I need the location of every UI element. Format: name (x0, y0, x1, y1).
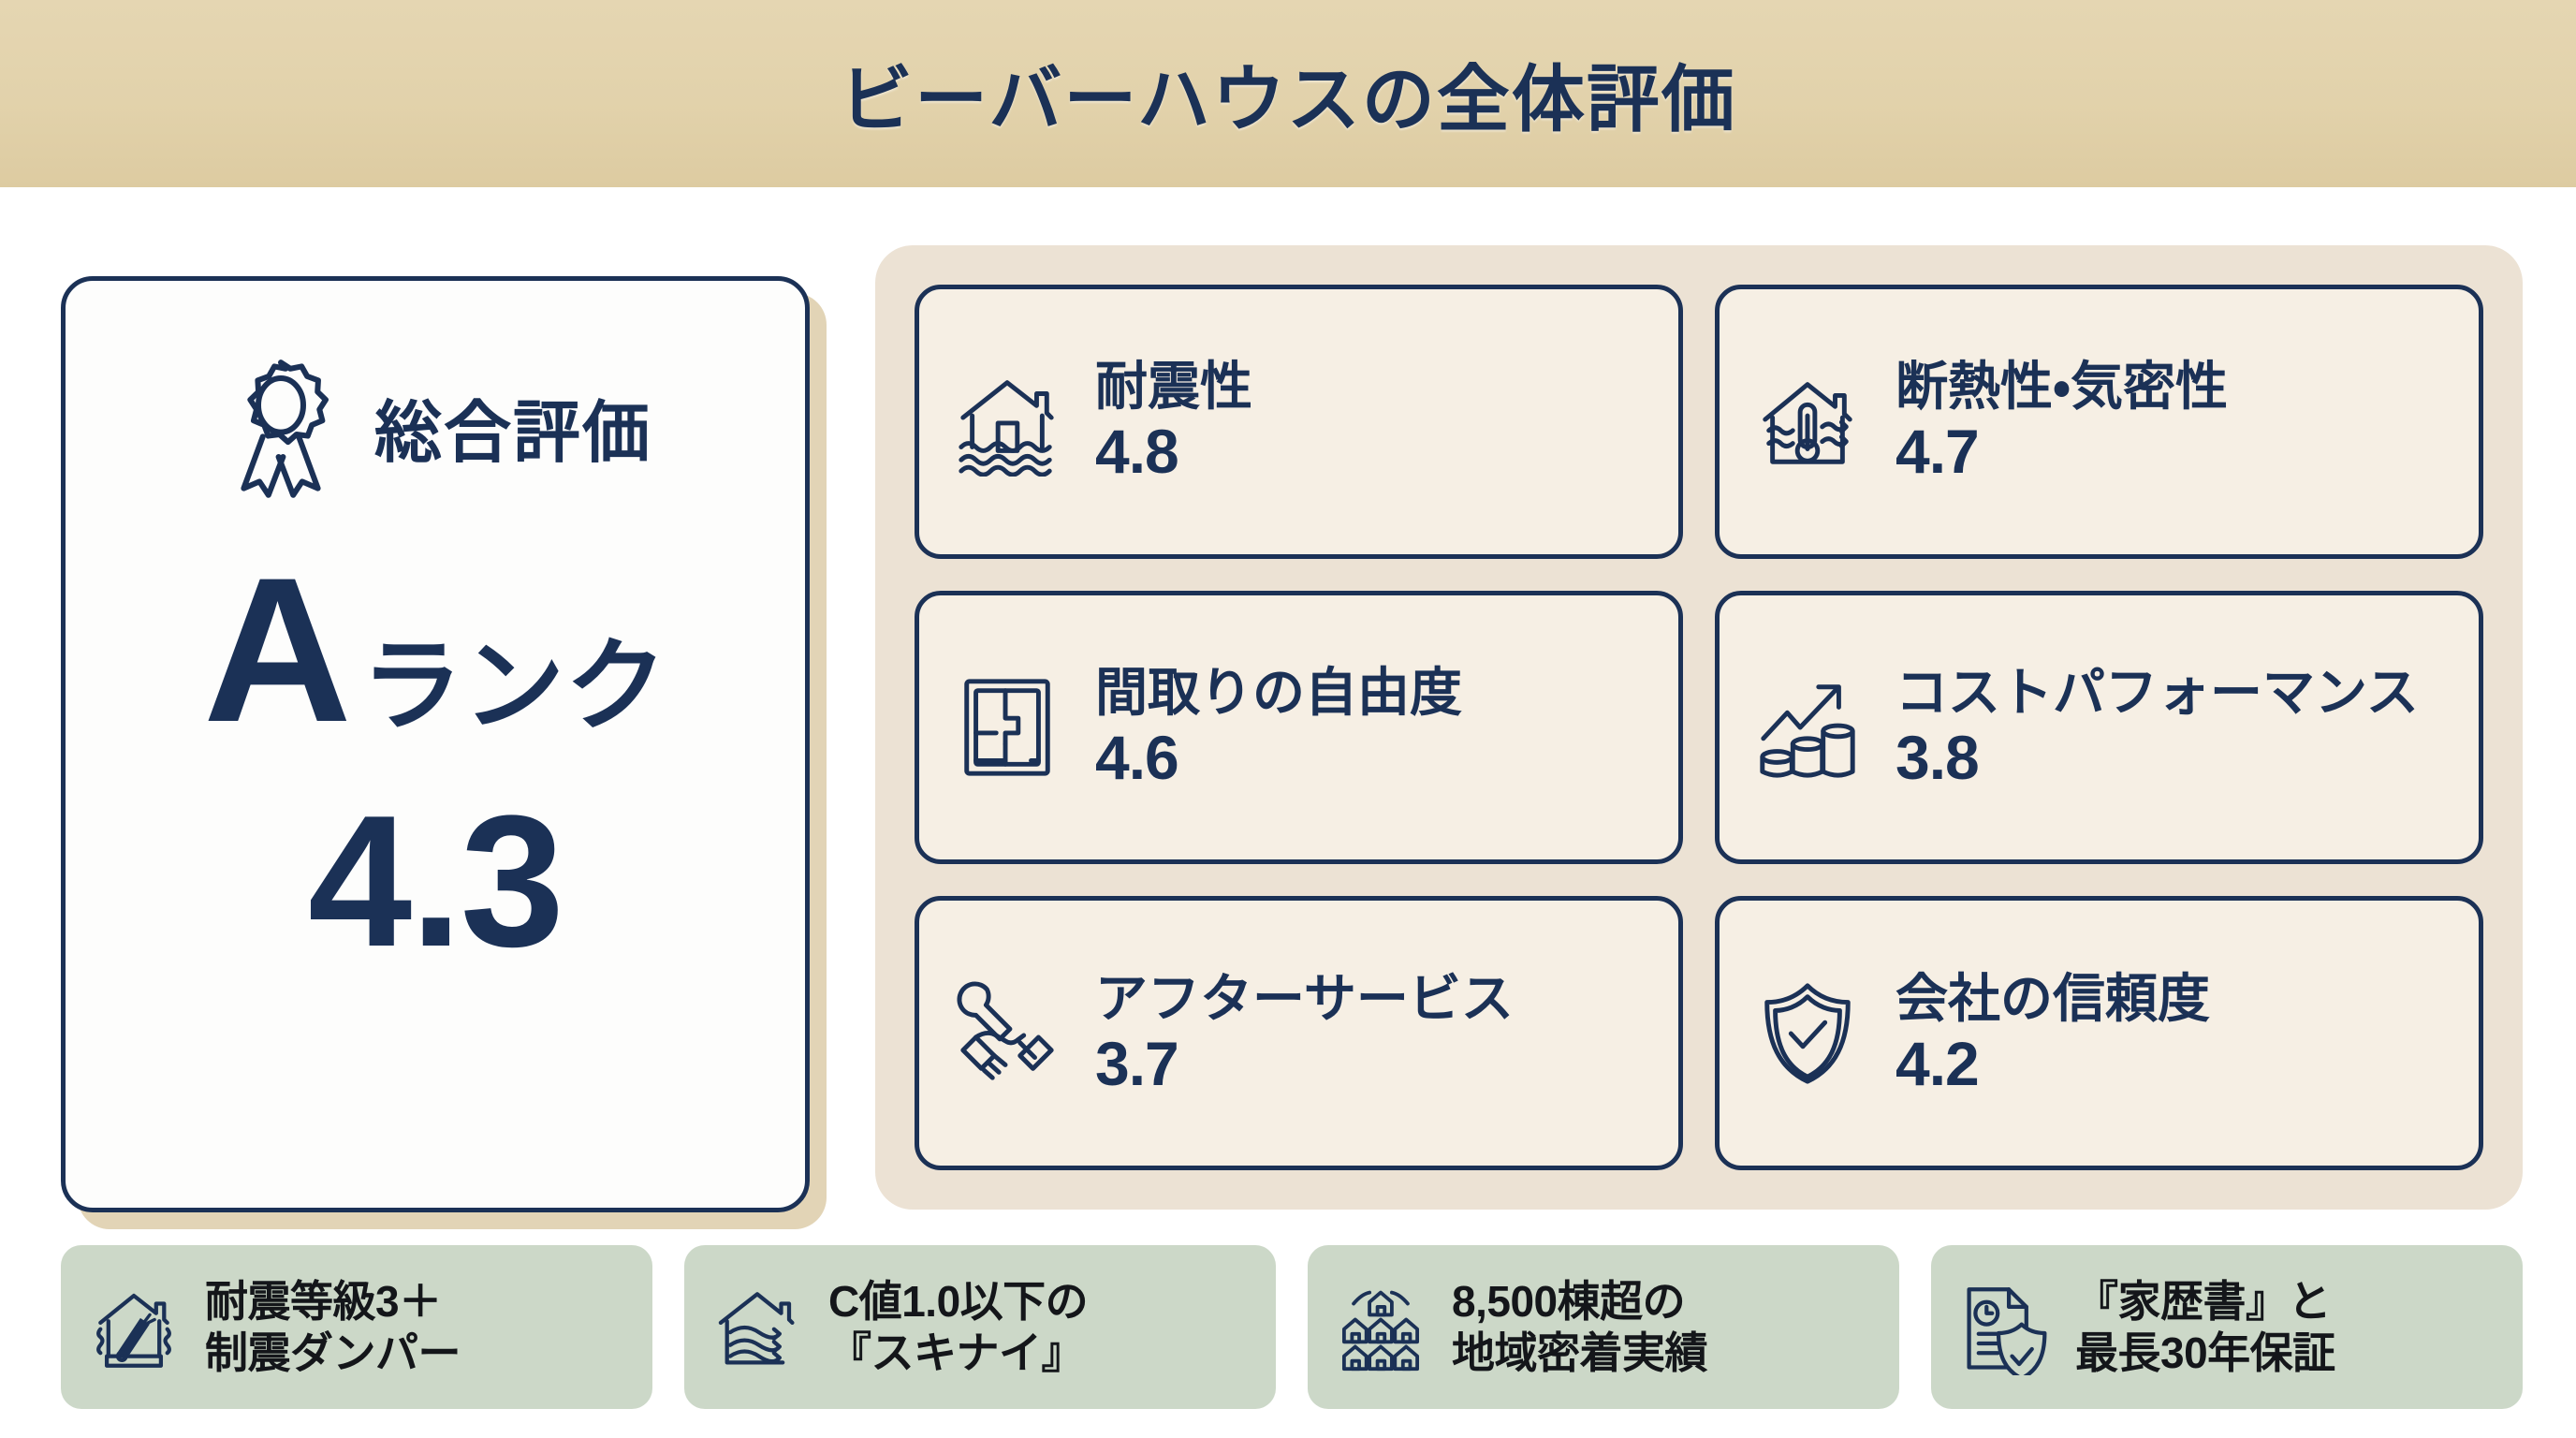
badge-text: 『家歴書』と 最長30年保証 (2075, 1276, 2335, 1378)
metric-card: コストパフォーマンス 3.8 (1715, 591, 2483, 865)
metric-card: 断熱性・気密性 4.7 (1715, 285, 2483, 559)
content-area: 総合評価 A ランク 4.3 (0, 187, 2576, 1438)
badge-line-2: 制震ダンパー (205, 1328, 461, 1378)
metric-text: 耐震性 4.8 (1095, 356, 1252, 487)
metric-text: 間取りの自由度 4.6 (1095, 662, 1462, 793)
metric-value: 4.7 (1895, 418, 2228, 487)
feature-badge: C値1.0以下の 『スキナイ』 (684, 1245, 1276, 1409)
metric-value: 4.8 (1095, 418, 1252, 487)
document-shield-icon (1954, 1277, 2055, 1378)
growth-coins-icon (1748, 668, 1867, 787)
floorplan-icon (947, 668, 1067, 787)
badge-line-2: 『スキナイ』 (828, 1328, 1088, 1378)
overall-rank-row: A ランク (203, 562, 667, 751)
metric-text: 会社の信頼度 4.2 (1895, 968, 2210, 1099)
badge-text: 耐震等級3＋ 制震ダンパー (205, 1276, 461, 1378)
metric-card: アフターサービス 3.7 (915, 896, 1683, 1170)
overall-rank-card: 総合評価 A ランク 4.3 (61, 276, 810, 1212)
house-damper-icon (83, 1277, 184, 1378)
metric-label: アフターサービス (1095, 968, 1514, 1030)
badge-line-1: 『家歴書』と (2075, 1276, 2335, 1327)
badge-text: 8,500棟超の 地域密着実績 (1452, 1276, 1707, 1378)
overall-rank-suffix: ランク (361, 605, 667, 751)
house-waves-icon (947, 361, 1067, 481)
metric-value: 3.7 (1095, 1030, 1514, 1099)
badge-line-2: 地域密着実績 (1452, 1328, 1707, 1378)
metric-label: 会社の信頼度 (1895, 968, 2210, 1030)
feature-badge: 耐震等級3＋ 制震ダンパー (61, 1245, 652, 1409)
metric-label: 耐震性 (1095, 356, 1252, 418)
metric-label: コストパフォーマンス (1895, 662, 2419, 724)
header-band: ビーバーハウスの全体評価 (0, 0, 2576, 187)
metrics-grid: 耐震性 4.8 (915, 285, 2483, 1170)
metric-text: コストパフォーマンス 3.8 (1895, 662, 2419, 793)
wrench-handshake-icon (947, 974, 1067, 1093)
overall-score-value: 4.3 (308, 788, 563, 976)
overall-rank-card-wrapper: 総合評価 A ランク 4.3 (61, 276, 810, 1212)
badge-line-2: 最長30年保証 (2075, 1328, 2335, 1378)
feature-badge-strip: 耐震等級3＋ 制震ダンパー C値1.0以下の 『スキナイ』 (61, 1245, 2523, 1409)
overall-rank-header: 総合評価 (219, 356, 651, 496)
house-cluster-icon (1330, 1277, 1431, 1378)
metric-label: 間取りの自由度 (1095, 662, 1462, 724)
metric-text: アフターサービス 3.7 (1095, 968, 1514, 1099)
metric-value: 3.8 (1895, 724, 2419, 793)
feature-badge: 8,500棟超の 地域密着実績 (1308, 1245, 1899, 1409)
metric-text: 断熱性・気密性 4.7 (1895, 356, 2228, 487)
shield-check-icon (1748, 974, 1867, 1093)
badge-line-1: C値1.0以下の (828, 1276, 1088, 1327)
house-airflow-icon (707, 1277, 808, 1378)
award-ribbon-icon (219, 356, 343, 496)
metric-card: 耐震性 4.8 (915, 285, 1683, 559)
metric-value: 4.6 (1095, 724, 1462, 793)
metric-value: 4.2 (1895, 1030, 2210, 1099)
feature-badge: 『家歴書』と 最長30年保証 (1931, 1245, 2523, 1409)
metrics-panel: 耐震性 4.8 (875, 245, 2523, 1210)
overall-rank-letter: A (203, 562, 348, 739)
badge-line-1: 耐震等級3＋ (205, 1276, 461, 1327)
badge-text: C値1.0以下の 『スキナイ』 (828, 1276, 1088, 1378)
metric-card: 会社の信頼度 4.2 (1715, 896, 2483, 1170)
infographic-page: ビーバーハウスの全体評価 総合評価 (0, 0, 2576, 1438)
page-title: ビーバーハウスの全体評価 (840, 41, 1736, 146)
metric-card: 間取りの自由度 4.6 (915, 591, 1683, 865)
house-thermometer-icon (1748, 361, 1867, 481)
metric-label: 断熱性・気密性 (1895, 356, 2228, 418)
overall-rank-label: 総合評価 (374, 377, 651, 476)
badge-line-1: 8,500棟超の (1452, 1276, 1707, 1327)
